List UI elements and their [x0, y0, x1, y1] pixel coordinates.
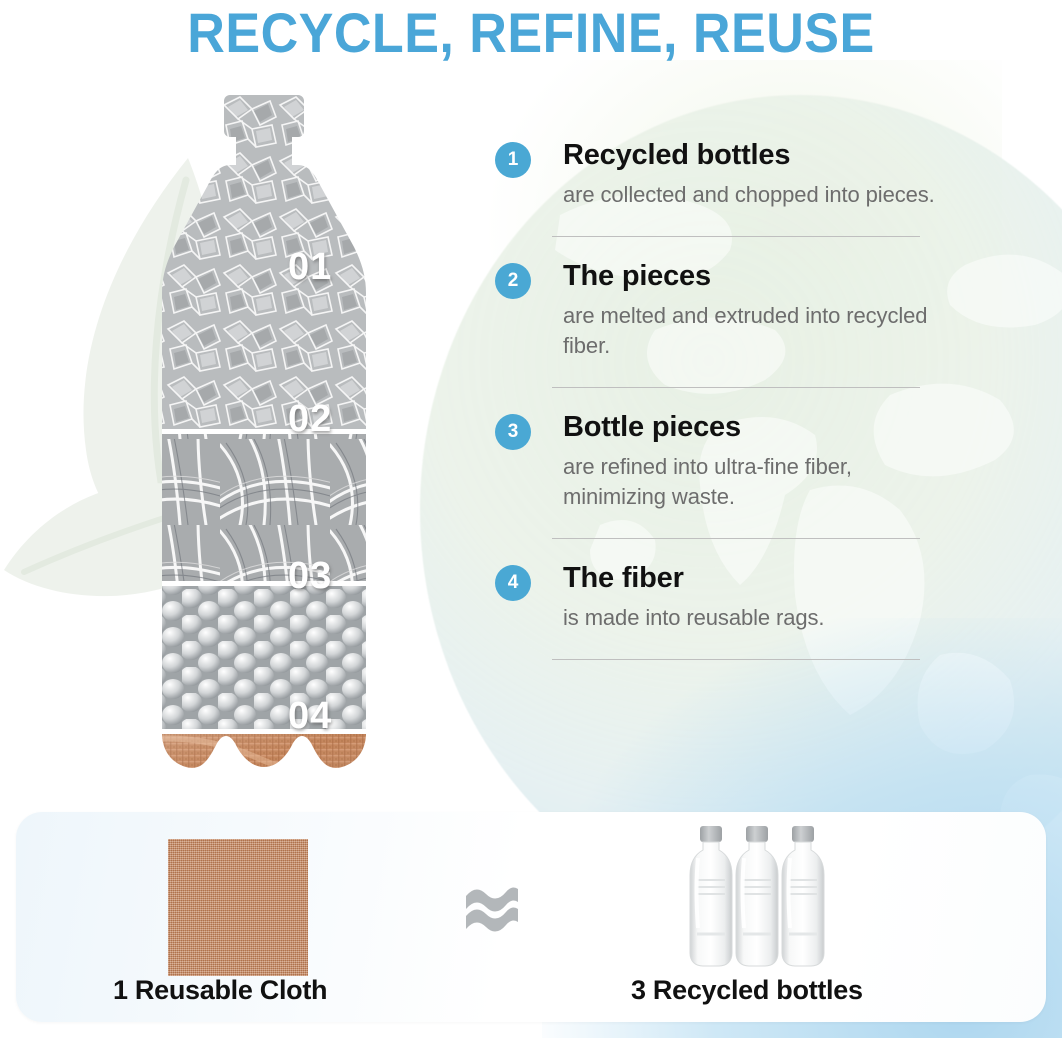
comparison-left-label: 1 Reusable Cloth: [113, 975, 327, 1006]
step-item-4: 4 The fiber is made into reusable rags.: [495, 561, 935, 633]
step-title-3: Bottle pieces: [563, 410, 935, 444]
step-divider-1: [552, 236, 920, 237]
step-divider-4: [552, 659, 920, 660]
step-item-3: 3 Bottle pieces are refined into ultra-f…: [495, 410, 935, 512]
step-badge-2: 2: [495, 263, 531, 299]
step-description-1: are collected and chopped into pieces.: [563, 180, 935, 210]
step-item-1: 1 Recycled bottles are collected and cho…: [495, 138, 935, 210]
step-badge-1: 1: [495, 142, 531, 178]
band-01-texture: [110, 95, 400, 433]
steps-list: 1 Recycled bottles are collected and cho…: [495, 138, 935, 682]
step-title-4: The fiber: [563, 561, 935, 595]
step-item-2: 2 The pieces are melted and extruded int…: [495, 259, 935, 361]
step-badge-4: 4: [495, 565, 531, 601]
band-03-texture: [110, 585, 400, 733]
approximately-equal-icon: [462, 880, 522, 936]
comparison-right-label: 3 Recycled bottles: [631, 975, 863, 1006]
step-badge-3: 3: [495, 414, 531, 450]
page-title: RECYCLE, REFINE, REUSE: [37, 2, 1025, 64]
bottle-illustration: 01 02 03 04: [110, 95, 400, 807]
step-title-2: The pieces: [563, 259, 935, 293]
three-bottles-icon: [688, 822, 848, 970]
step-divider-2: [552, 387, 920, 388]
step-title-1: Recycled bottles: [563, 138, 935, 172]
step-description-2: are melted and extruded into recycled fi…: [563, 301, 935, 361]
step-description-4: is made into reusable rags.: [563, 603, 935, 633]
band-02-texture: [110, 433, 400, 585]
cloth-swatch: [168, 839, 308, 976]
step-description-3: are refined into ultra-fine fiber, minim…: [563, 452, 935, 512]
step-divider-3: [552, 538, 920, 539]
